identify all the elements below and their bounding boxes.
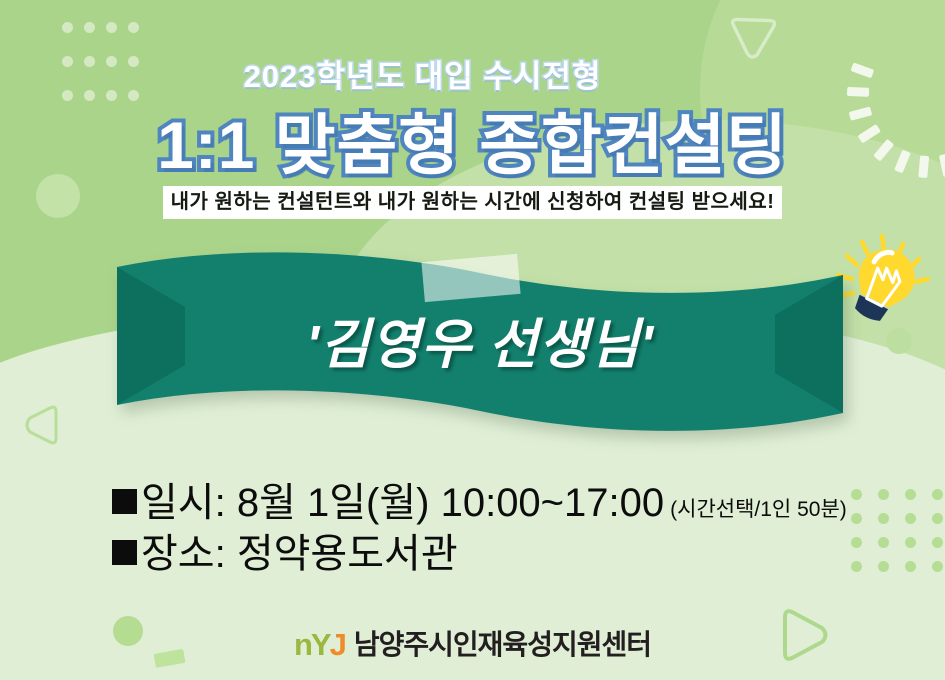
details-block: 일시: 8월 1일(월) 10:00~17:00 (시간선택/1인 50분) 장… xyxy=(112,478,847,580)
poster-canvas: 2023학년도 대입 수시전형 1:1 맞춤형 종합컨설팅 내가 원하는 컨설턴… xyxy=(0,0,945,680)
dot-grid-right-middle xyxy=(851,489,945,585)
detail-datetime-text: 일시: 8월 1일(월) 10:00~17:00 xyxy=(141,478,664,529)
detail-location-text: 장소: 정약용도서관 xyxy=(141,529,458,580)
bullet-square-icon xyxy=(112,489,137,514)
poster-tagline: 내가 원하는 컨설턴트와 내가 원하는 시간에 신청하여 컨설팅 받으세요! xyxy=(163,186,783,219)
detail-datetime-note: (시간선택/1인 50분) xyxy=(670,497,847,524)
nyj-logo-icon: nYJ xyxy=(294,629,345,660)
logo-mark-orange: J xyxy=(330,627,345,662)
ribbon-banner-text: '김영우 선생님' xyxy=(115,300,845,379)
detail-row-datetime: 일시: 8월 1일(월) 10:00~17:00 (시간선택/1인 50분) xyxy=(112,478,847,529)
tagline-container: 내가 원하는 컨설턴트와 내가 원하는 시간에 신청하여 컨설팅 받으세요! xyxy=(0,186,945,219)
triangle-left-icon xyxy=(22,404,62,446)
logo-mark-green: nY xyxy=(294,627,330,662)
poster-main-title: 1:1 맞춤형 종합컨설팅 xyxy=(0,92,945,188)
tape-strip xyxy=(421,254,520,302)
footer-branding: nYJ 남양주시인재육성지원센터 xyxy=(0,623,945,663)
footer-organization-name: 남양주시인재육성지원센터 xyxy=(354,623,651,663)
poster-subtitle: 2023학년도 대입 수시전형 xyxy=(0,51,945,96)
detail-row-location: 장소: 정약용도서관 xyxy=(112,529,847,580)
bullet-square-icon xyxy=(112,540,137,565)
